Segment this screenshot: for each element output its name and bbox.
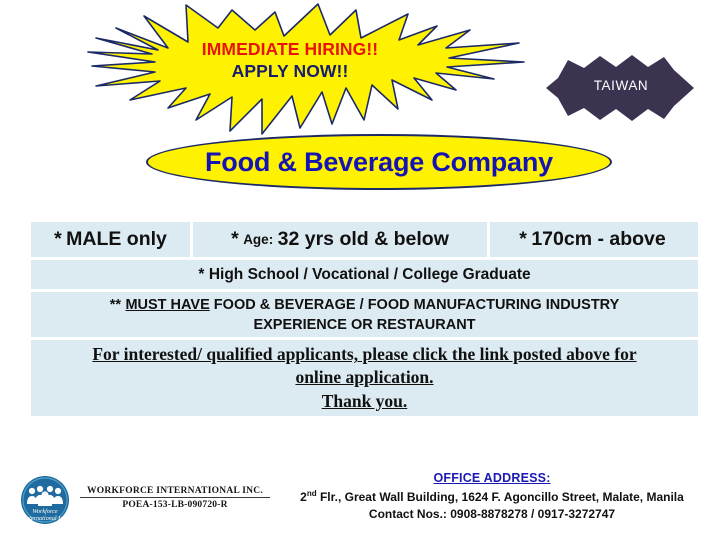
table-row-application-instructions: For interested/ qualified applicants, pl… xyxy=(31,340,698,416)
requirement-age-cell: * Age: 32 yrs old & below xyxy=(193,222,490,257)
table-row-education: * High School / Vocational / College Gra… xyxy=(31,260,698,292)
application-instructions-line1: For interested/ qualified applicants, pl… xyxy=(92,343,636,366)
requirement-age-value: 32 yrs old & below xyxy=(278,228,449,251)
requirement-gender-cell: * MALE only xyxy=(31,222,193,257)
logo-script-line1: Workforce xyxy=(32,508,58,515)
office-address-heading: OFFICE ADDRESS: xyxy=(272,470,712,488)
logo-circle-graphic: Workforce International Inc xyxy=(18,474,72,526)
agency-logo-block: Workforce International Inc WORKFORCE IN… xyxy=(18,474,268,526)
application-thank-you: Thank you. xyxy=(322,390,408,413)
address-street: Flr., Great Wall Building, 1624 F. Agonc… xyxy=(317,490,684,504)
footer: Workforce International Inc WORKFORCE IN… xyxy=(0,462,720,534)
starburst-shape xyxy=(0,0,560,140)
agency-license-number: POEA-153-LB-090720-R xyxy=(80,498,270,510)
job-posting-flyer: IMMEDIATE HIRING!! APPLY NOW!! TAIWAN Fo… xyxy=(0,0,720,534)
requirement-experience-cell: ** MUST HAVE FOOD & BEVERAGE / FOOD MANU… xyxy=(31,292,698,337)
office-address-line1: 2nd Flr., Great Wall Building, 1624 F. A… xyxy=(272,488,712,506)
application-instructions-line2: online application. xyxy=(295,366,433,389)
address-floor-ordinal: nd xyxy=(307,489,317,498)
requirement-experience-line1: ** MUST HAVE FOOD & BEVERAGE / FOOD MANU… xyxy=(110,294,620,316)
agency-identity-text: WORKFORCE INTERNATIONAL INC. POEA-153-LB… xyxy=(80,486,270,510)
requirement-height-cell: * 170cm - above xyxy=(490,222,695,257)
starburst-banner: IMMEDIATE HIRING!! APPLY NOW!! xyxy=(0,0,560,140)
company-name-text: Food & Beverage Company xyxy=(205,147,553,178)
table-row-basic-requirements: * MALE only * Age: 32 yrs old & below * … xyxy=(31,222,698,260)
application-instructions-cell: For interested/ qualified applicants, pl… xyxy=(31,340,698,416)
workforce-people-circle-logo-icon: Workforce International Inc xyxy=(18,474,72,526)
country-badge: TAIWAN xyxy=(546,52,696,124)
requirement-age-label: Age: xyxy=(243,232,273,247)
agency-name: WORKFORCE INTERNATIONAL INC. xyxy=(80,486,270,498)
contact-numbers: Contact Nos.: 0908-8878278 / 0917-327274… xyxy=(272,506,712,523)
address-floor-number: 2 xyxy=(300,490,307,504)
requirement-height-text: 170cm - above xyxy=(531,228,665,251)
table-row-experience: ** MUST HAVE FOOD & BEVERAGE / FOOD MANU… xyxy=(31,292,698,340)
must-have-emphasis: MUST HAVE xyxy=(125,297,209,313)
asterisk-marker: * xyxy=(198,266,204,284)
star-badge-shape xyxy=(546,52,696,124)
requirement-education-cell: * High School / Vocational / College Gra… xyxy=(31,260,698,289)
requirement-education-text: High School / Vocational / College Gradu… xyxy=(209,266,531,284)
office-address-block: OFFICE ADDRESS: 2nd Flr., Great Wall Bui… xyxy=(272,470,712,523)
asterisk-marker: * xyxy=(519,228,527,251)
requirement-experience-rest: FOOD & BEVERAGE / FOOD MANUFACTURING IND… xyxy=(210,297,620,313)
requirements-table: * MALE only * Age: 32 yrs old & below * … xyxy=(31,222,698,416)
requirement-gender-text: MALE only xyxy=(66,228,167,251)
double-asterisk-marker: ** xyxy=(110,297,121,313)
asterisk-marker: * xyxy=(231,228,239,251)
asterisk-marker: * xyxy=(54,228,62,251)
requirement-experience-line2: EXPERIENCE OR RESTAURANT xyxy=(253,316,475,336)
logo-script-line2: International Inc xyxy=(23,515,66,522)
company-name-banner: Food & Beverage Company xyxy=(146,134,612,190)
